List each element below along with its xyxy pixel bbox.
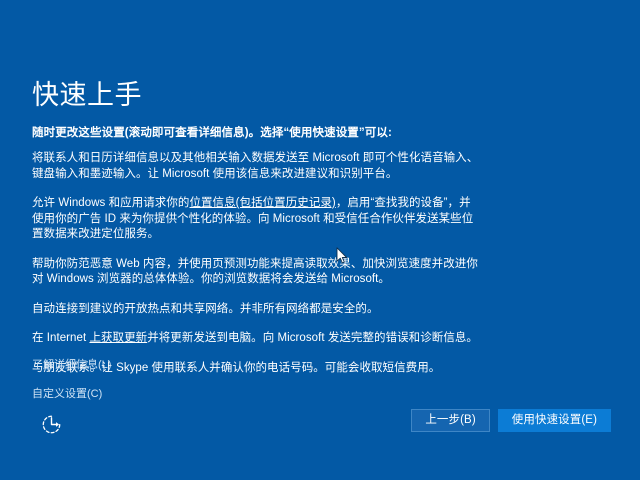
paragraph-text: 并将更新发送到电脑。向 Microsoft 发送完整的错误和诊断信息。 (147, 332, 478, 344)
content-area: 快速上手 随时更改这些设置(滚动即可查看详细信息)。选择“使用快速设置”可以: … (32, 78, 480, 376)
inline-link[interactable]: 位置信息(包括位置历史记录) (189, 197, 335, 209)
button-bar: 上一步(B)使用快速设置(E) (411, 409, 611, 432)
page-subtitle: 随时更改这些设置(滚动即可查看详细信息)。选择“使用快速设置”可以: (32, 125, 480, 141)
paragraph-text: 允许 Windows 和应用请求你的 (32, 197, 189, 209)
page-title: 快速上手 (32, 78, 480, 112)
footer-link-learn-more[interactable]: 了解详细信息(L) (32, 358, 111, 373)
settings-paragraph: 帮助你防范恶意 Web 内容，并使用页预测功能来提高读取效果、加快浏览速度并改进… (32, 257, 480, 288)
paragraph-text: 自动连接到建议的开放热点和共享网络。并非所有网络都是安全的。 (32, 303, 379, 315)
footer-link-customize-settings[interactable]: 自定义设置(C) (32, 387, 102, 402)
back-button[interactable]: 上一步(B) (411, 409, 489, 432)
paragraph-text: 将联系人和日历详细信息以及其他相关输入数据发送至 Microsoft 即可个性化… (32, 152, 478, 180)
ease-of-access-button[interactable] (36, 409, 66, 439)
footer-links: 了解详细信息(L)自定义设置(C) (32, 358, 332, 416)
use-express-settings-button[interactable]: 使用快速设置(E) (498, 409, 611, 432)
paragraph-text: 在 Internet (32, 332, 89, 344)
settings-paragraph: 允许 Windows 和应用请求你的位置信息(包括位置历史记录)，启用“查找我的… (32, 196, 480, 243)
paragraph-text: 帮助你防范恶意 Web 内容，并使用页预测功能来提高读取效果、加快浏览速度并改进… (32, 258, 478, 286)
settings-description-list: 将联系人和日历详细信息以及其他相关输入数据发送至 Microsoft 即可个性化… (32, 151, 480, 376)
oobe-screen: 快速上手 随时更改这些设置(滚动即可查看详细信息)。选择“使用快速设置”可以: … (0, 0, 640, 480)
ease-of-access-icon (41, 414, 62, 435)
settings-paragraph: 自动连接到建议的开放热点和共享网络。并非所有网络都是安全的。 (32, 302, 480, 318)
inline-link[interactable]: 上获取更新 (89, 332, 147, 344)
settings-paragraph: 将联系人和日历详细信息以及其他相关输入数据发送至 Microsoft 即可个性化… (32, 151, 480, 182)
settings-paragraph: 在 Internet 上获取更新并将更新发送到电脑。向 Microsoft 发送… (32, 331, 480, 347)
